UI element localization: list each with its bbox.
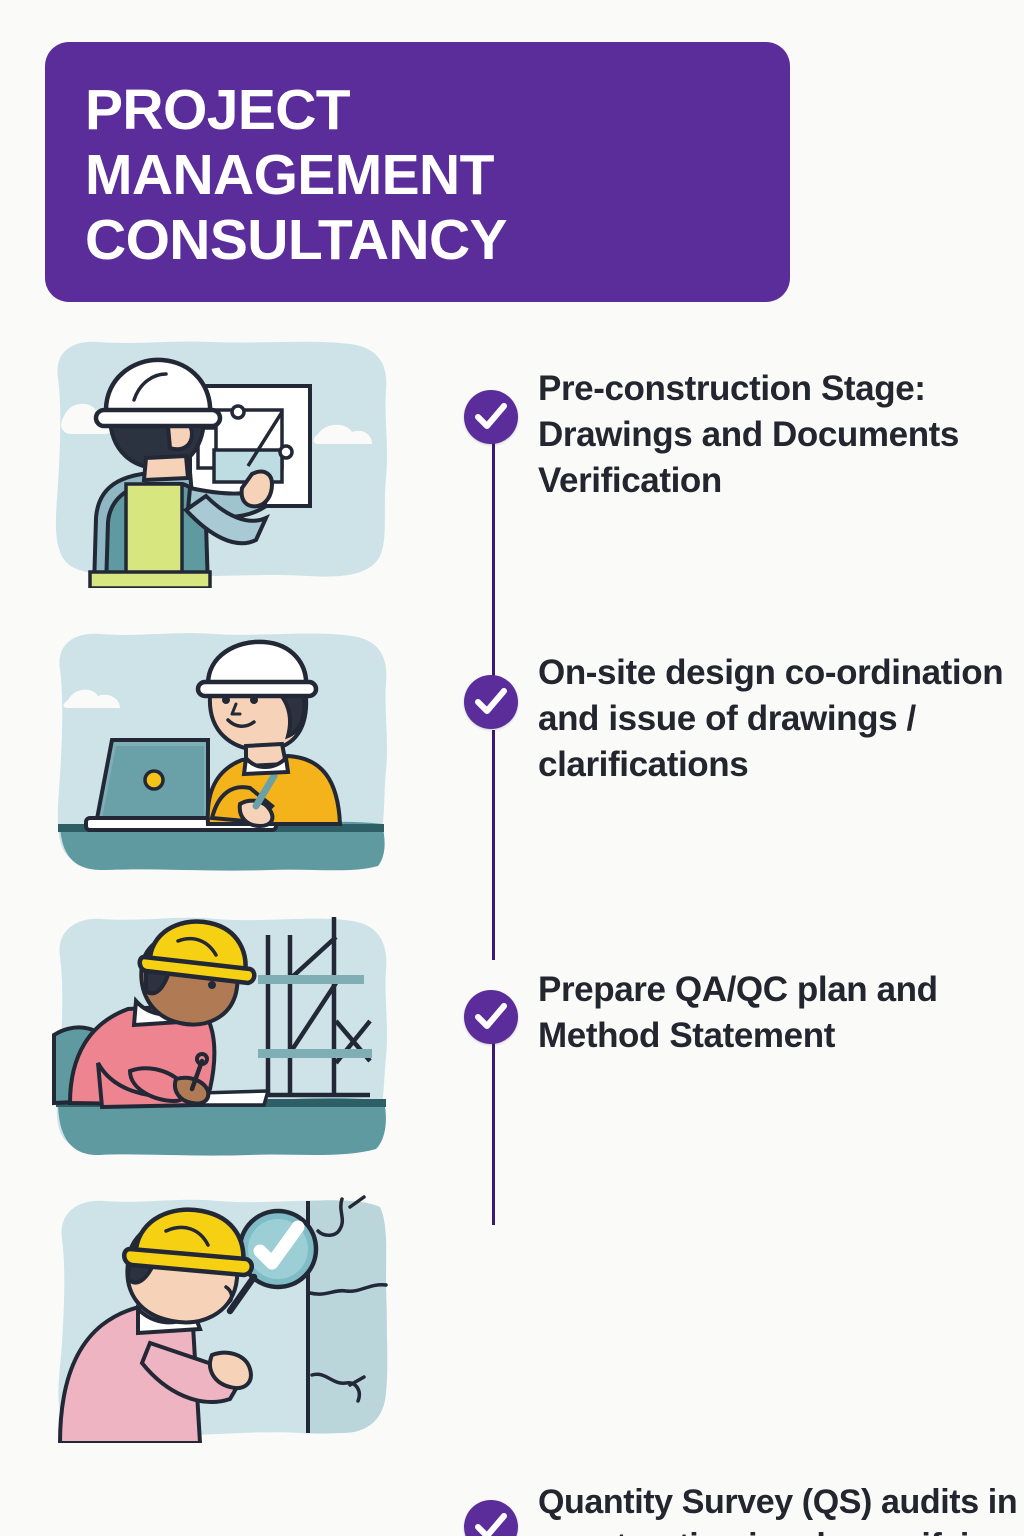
page-title: PROJECT MANAGEMENT CONSULTANCY: [85, 78, 750, 273]
step-label-3: Prepare QA/QC plan and Method Statement: [538, 967, 1024, 1059]
step-badge-3[interactable]: [464, 990, 518, 1044]
step-badge-1[interactable]: [464, 390, 518, 444]
step-row-4: Quantity Survey (QS) audits in construct…: [0, 1185, 1024, 1465]
step-label-2: On-site design co-ordination and issue o…: [538, 650, 1024, 789]
step-row-1: Pre-construction Stage: Drawings and Doc…: [0, 330, 1024, 610]
step-row-3: Prepare QA/QC plan and Method Statement: [0, 905, 1024, 1185]
step-label-4: Quantity Survey (QS) audits in construct…: [538, 1480, 1024, 1536]
step-badge-2[interactable]: [464, 675, 518, 729]
infographic-page: PROJECT MANAGEMENT CONSULTANCY: [0, 0, 1024, 1536]
illustration-engineer-at-laptop: [50, 628, 390, 878]
step-label-1: Pre-construction Stage: Drawings and Doc…: [538, 366, 1024, 505]
title-banner: PROJECT MANAGEMENT CONSULTANCY: [45, 42, 790, 302]
illustration-engineer-writing-near-scaffolding: [50, 913, 390, 1163]
illustration-worker-pointing-at-blueprint: [50, 338, 390, 588]
illustration-inspector-with-magnifier-at-cracked-wall: [50, 1193, 390, 1443]
step-row-2: On-site design co-ordination and issue o…: [0, 620, 1024, 900]
step-badge-4[interactable]: [464, 1500, 518, 1536]
